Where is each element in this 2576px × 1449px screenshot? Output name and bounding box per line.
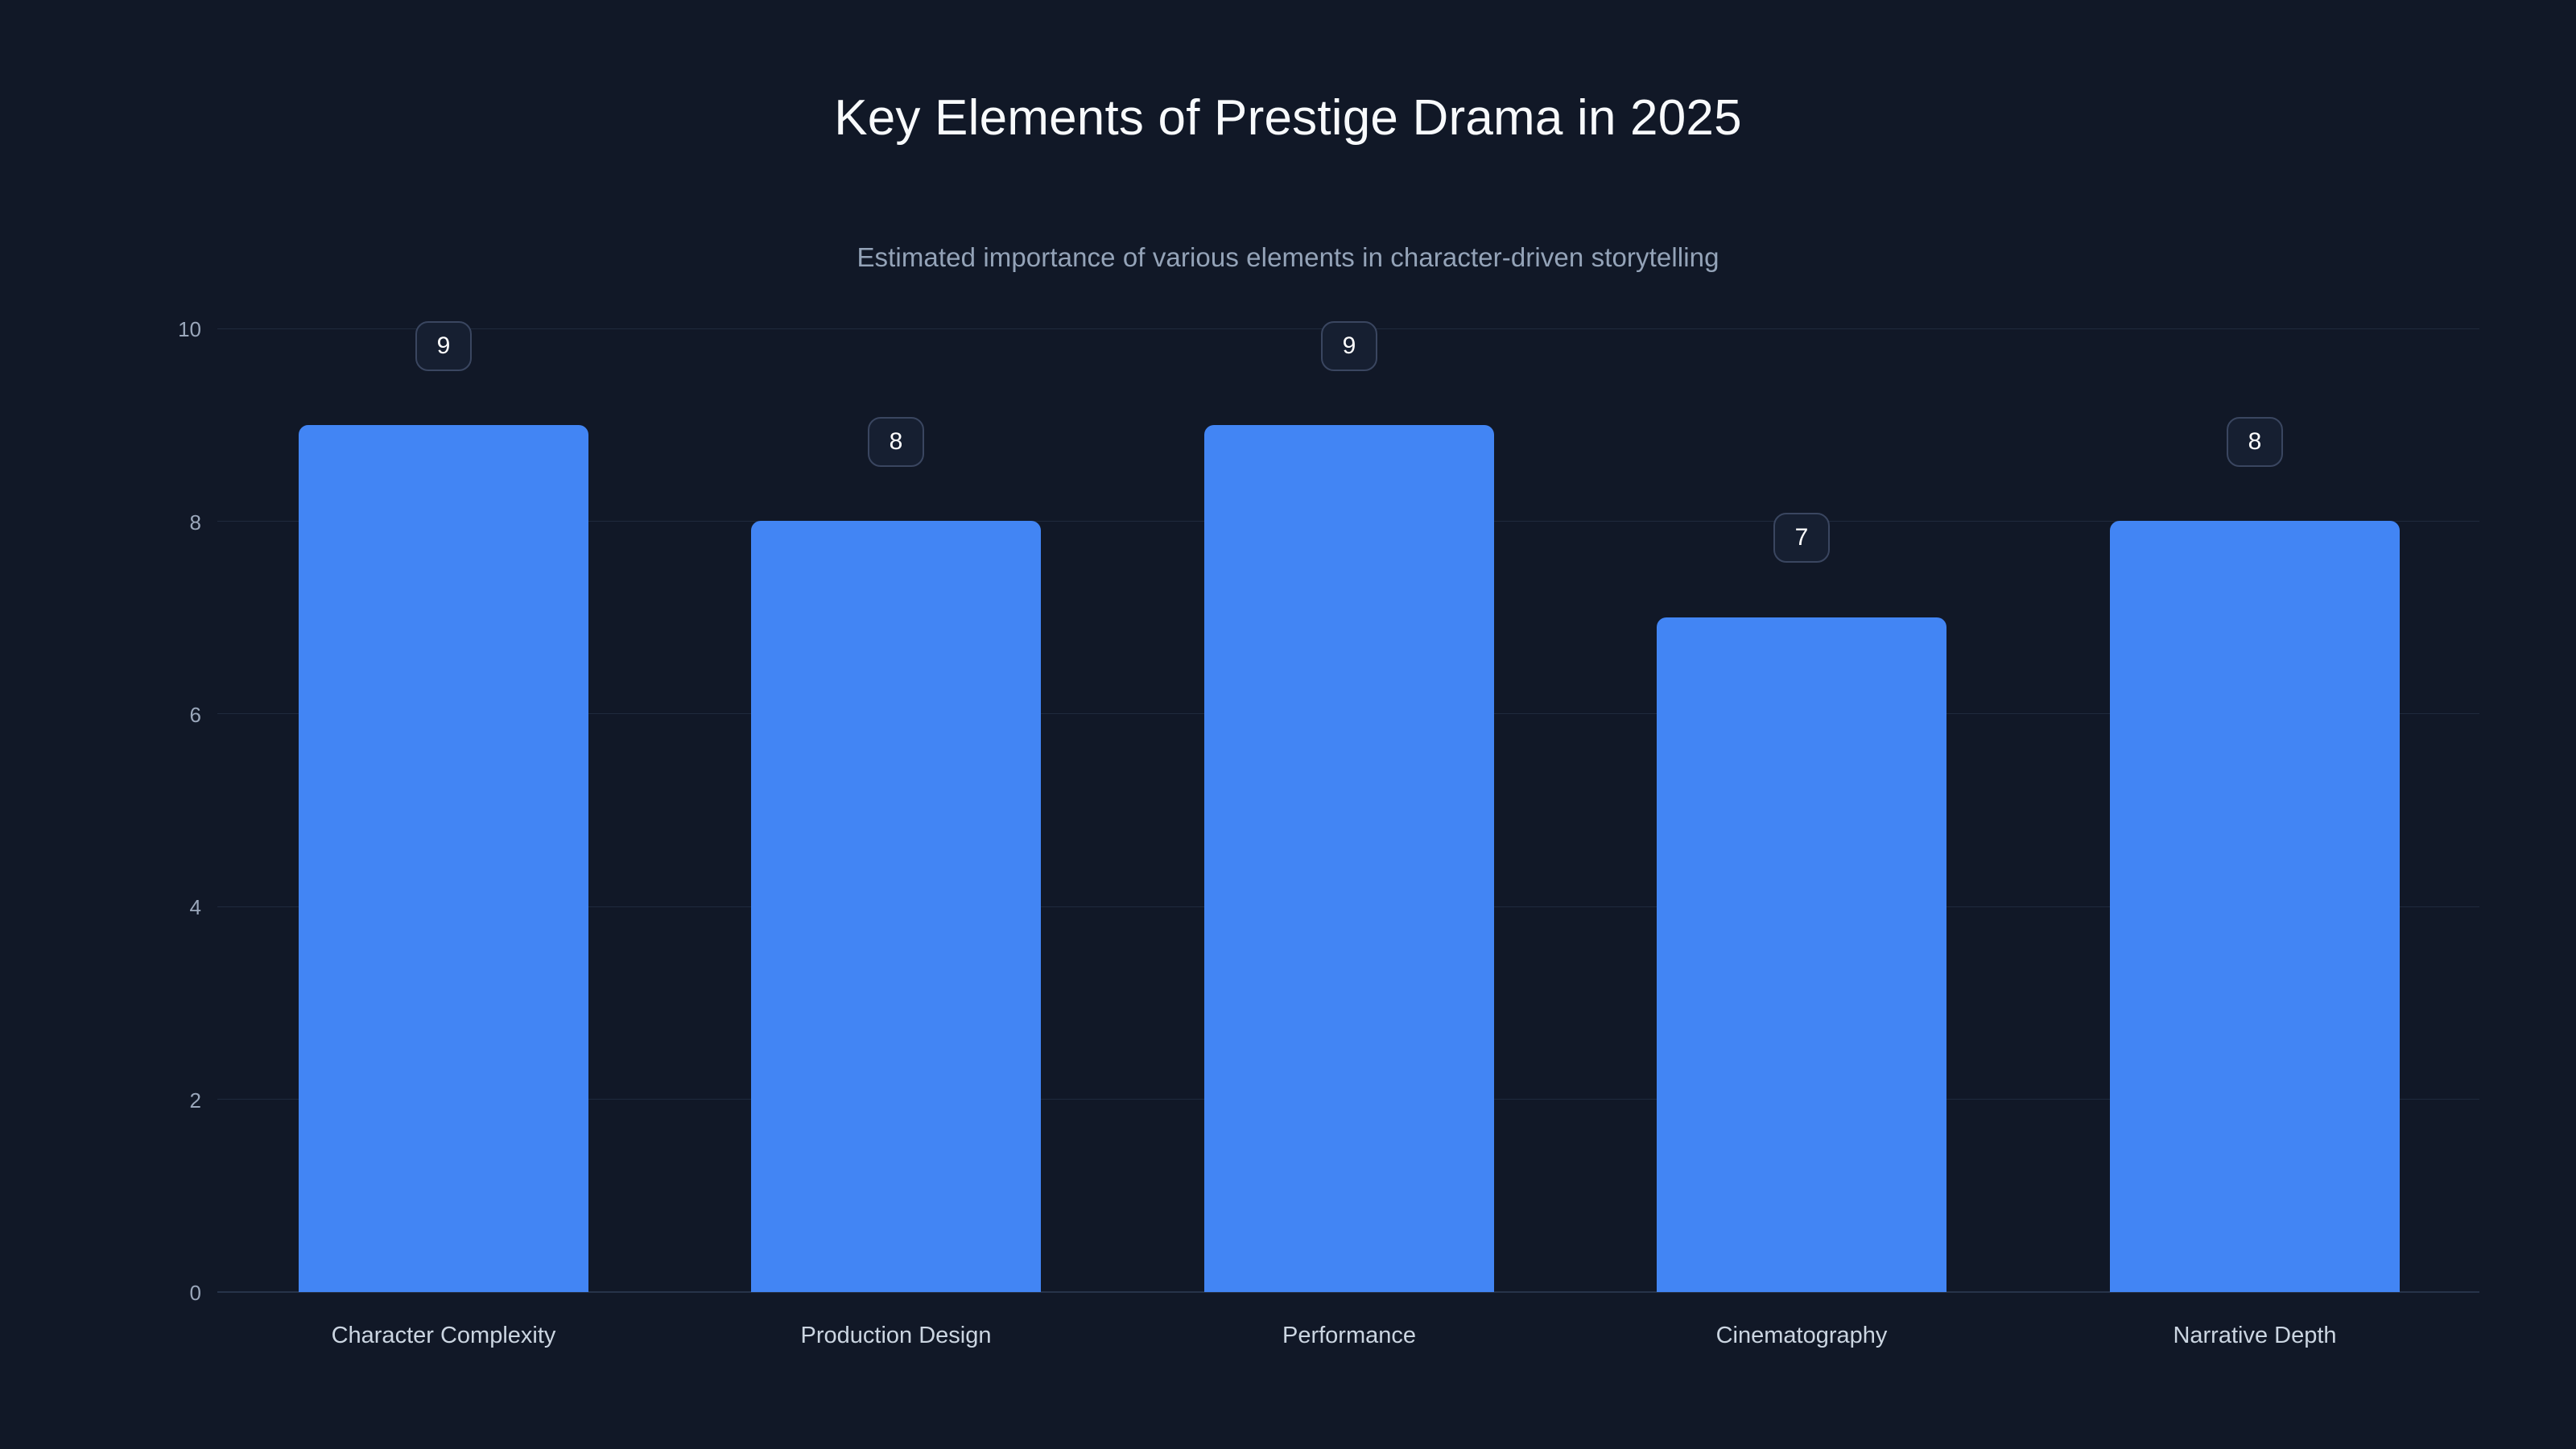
bar-production-design[interactable]	[751, 521, 1041, 1292]
y-tick-label-0: 0	[105, 1282, 201, 1303]
value-badge-character-complexity: 9	[415, 321, 472, 371]
y-tick-label-10: 10	[105, 319, 201, 340]
x-category-label-character-complexity: Character Complexity	[218, 1324, 669, 1348]
y-tick-label-4: 4	[105, 897, 201, 918]
chart-title: Key Elements of Prestige Drama in 2025	[0, 89, 2576, 148]
value-badge-performance: 9	[1321, 321, 1377, 371]
chart-subtitle: Estimated importance of various elements…	[0, 242, 2576, 274]
value-badge-cinematography: 7	[1773, 513, 1830, 563]
x-category-label-narrative-depth: Narrative Depth	[2029, 1324, 2480, 1348]
y-tick-label-6: 6	[105, 704, 201, 725]
x-category-label-production-design: Production Design	[671, 1324, 1121, 1348]
y-tick-label-8: 8	[105, 512, 201, 533]
bar-cinematography[interactable]	[1657, 617, 1946, 1292]
value-badge-production-design: 8	[868, 417, 924, 467]
x-category-label-cinematography: Cinematography	[1576, 1324, 2027, 1348]
value-badge-narrative-depth: 8	[2227, 417, 2283, 467]
x-category-label-performance: Performance	[1124, 1324, 1575, 1348]
bar-character-complexity[interactable]	[299, 425, 588, 1292]
chart-canvas: Key Elements of Prestige Drama in 2025 E…	[0, 0, 2576, 1449]
plot-area: 9 8 9 7 8	[217, 328, 2479, 1292]
y-tick-label-2: 2	[105, 1090, 201, 1111]
bar-narrative-depth[interactable]	[2110, 521, 2400, 1292]
bar-performance[interactable]	[1204, 425, 1494, 1292]
